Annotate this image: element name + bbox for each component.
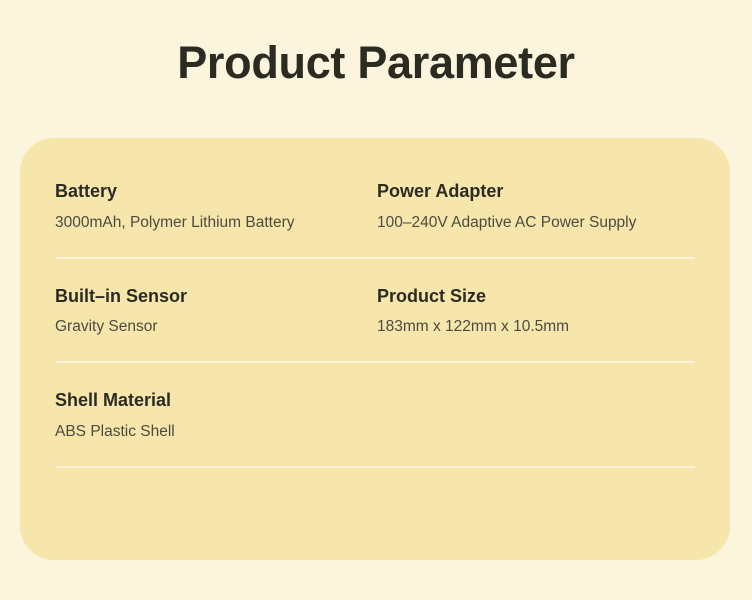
spec-row: Battery 3000mAh, Polymer Lithium Battery… bbox=[55, 180, 695, 259]
page-title: Product Parameter bbox=[0, 38, 752, 88]
specification-list: Battery 3000mAh, Polymer Lithium Battery… bbox=[55, 180, 695, 468]
spec-item-product-size: Product Size 183mm x 122mm x 10.5mm bbox=[375, 285, 695, 364]
specification-card: Battery 3000mAh, Polymer Lithium Battery… bbox=[20, 138, 730, 560]
spec-item-built-in-sensor: Built–in Sensor Gravity Sensor bbox=[55, 285, 375, 364]
spec-item-battery: Battery 3000mAh, Polymer Lithium Battery bbox=[55, 180, 375, 259]
spec-value: 3000mAh, Polymer Lithium Battery bbox=[55, 213, 375, 233]
spec-item-power-adapter: Power Adapter 100–240V Adaptive AC Power… bbox=[375, 180, 695, 259]
row-spacer bbox=[55, 259, 695, 285]
spec-value: 183mm x 122mm x 10.5mm bbox=[377, 317, 695, 337]
spec-item-empty bbox=[375, 389, 695, 468]
row-divider bbox=[55, 466, 695, 468]
row-spacer bbox=[55, 363, 695, 389]
spec-row: Built–in Sensor Gravity Sensor Product S… bbox=[55, 285, 695, 364]
spec-value: 100–240V Adaptive AC Power Supply bbox=[377, 213, 695, 233]
spec-label: Power Adapter bbox=[377, 180, 695, 203]
spec-label: Battery bbox=[55, 180, 375, 203]
spec-label: Product Size bbox=[377, 285, 695, 308]
spec-value: Gravity Sensor bbox=[55, 317, 375, 337]
spec-row: Shell Material ABS Plastic Shell bbox=[55, 389, 695, 468]
spec-item-shell-material: Shell Material ABS Plastic Shell bbox=[55, 389, 375, 468]
spec-label: Built–in Sensor bbox=[55, 285, 375, 308]
row-divider bbox=[55, 361, 695, 363]
row-divider bbox=[55, 257, 695, 259]
spec-label: Shell Material bbox=[55, 389, 375, 412]
spec-value: ABS Plastic Shell bbox=[55, 422, 375, 442]
